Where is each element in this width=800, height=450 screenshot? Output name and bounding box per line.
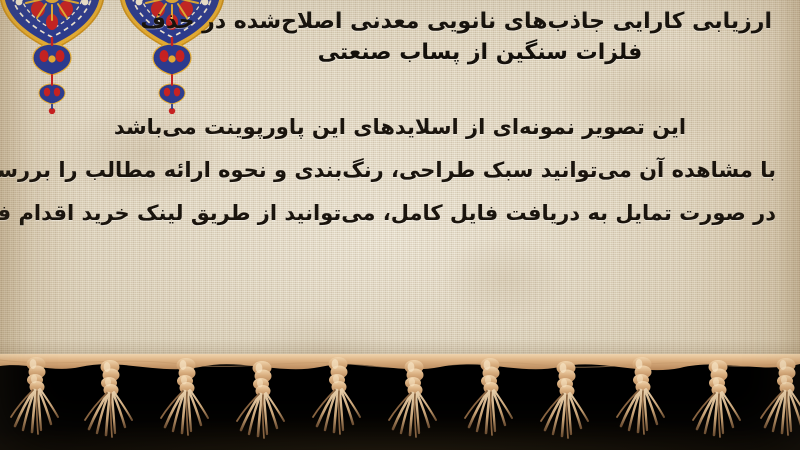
presentation-slide: ارزیابی کارایی جاذب‌های نانویی معدنی اصل… [0,0,800,450]
slide-title-line-2: فلزات سنگین از پساب صنعتی [188,37,772,68]
slide-title-line-1: ارزیابی کارایی جاذب‌های نانویی معدنی اصل… [188,6,772,37]
slide-body-text: این تصویر نمونه‌ای از اسلایدهای این پاور… [24,106,776,235]
body-line-3: در صورت تمایل به دریافت فایل کامل، می‌تو… [24,192,776,235]
knotted-tassel-fringe [0,354,800,450]
body-line-2: با مشاهده آن می‌توانید سبک طراحی، رنگ‌بن… [24,149,776,192]
body-line-1: این تصویر نمونه‌ای از اسلایدهای این پاور… [24,106,776,149]
slide-title: ارزیابی کارایی جاذب‌های نانویی معدنی اصل… [188,6,772,68]
